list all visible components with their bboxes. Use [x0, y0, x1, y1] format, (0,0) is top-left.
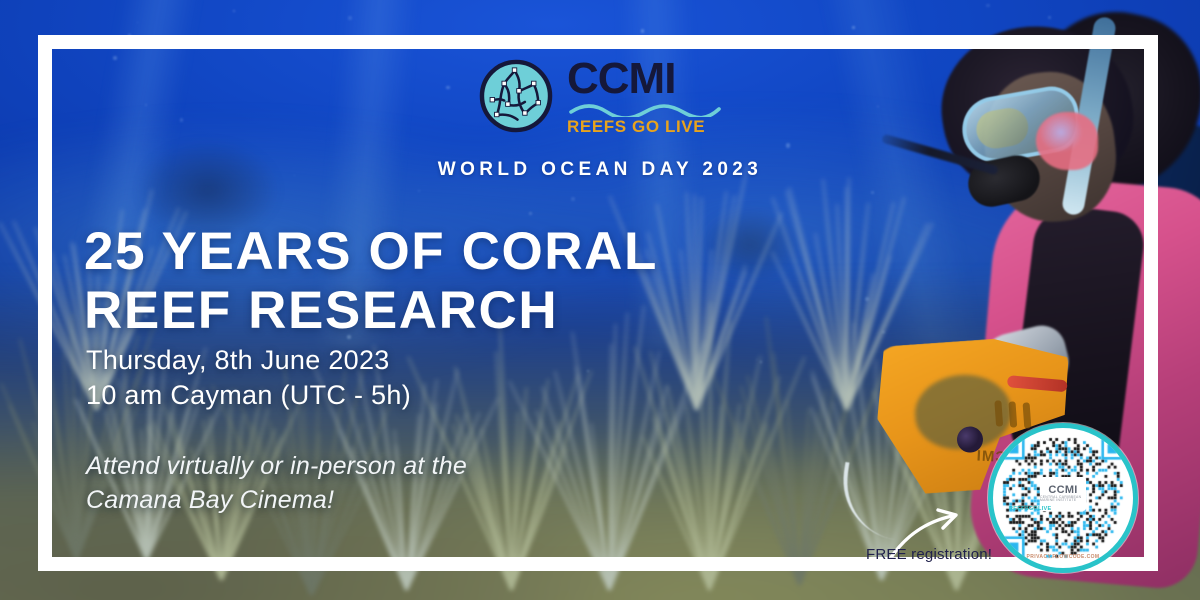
ccmi-logo: CCMI REEFS GO LIVE: [479, 58, 721, 135]
qr-side-label: REEFSGOLIVE: [1009, 507, 1051, 513]
wave-divider-icon: [569, 103, 721, 117]
qr-registration-badge[interactable]: CCMI CENTRAL CARIBBEAN MARINE INSTITUTE …: [988, 423, 1138, 573]
ccmi-coral-circle-icon: [479, 59, 553, 133]
ccmi-tagline: REEFS GO LIVE: [567, 118, 705, 135]
event-datetime: Thursday, 8th June 2023 10 am Cayman (UT…: [86, 343, 411, 413]
headline-line-1: 25 YEARS OF CORAL: [84, 222, 658, 281]
ccmi-wordmark-text: CCMI: [567, 58, 675, 100]
qr-center-sublabel: CENTRAL CARIBBEAN MARINE INSTITUTE: [1040, 496, 1086, 503]
headline-line-2: REEF RESEARCH: [84, 281, 658, 340]
event-date: Thursday, 8th June 2023: [86, 343, 411, 378]
page-title: 25 YEARS OF CORAL REEF RESEARCH: [84, 222, 658, 341]
world-ocean-day-kicker: WORLD OCEAN DAY 2023: [0, 160, 1200, 179]
poster: CCMI: [0, 0, 1200, 600]
event-time: 10 am Cayman (UTC - 5h): [86, 378, 411, 413]
attendance-note: Attend virtually or in-person at the Cam…: [86, 450, 467, 517]
brand-block: CCMI REEFS GO LIVE WORLD OCEAN DAY 2023: [0, 58, 1200, 179]
qr-footer-url: PRIVACY.FLOWCODE.COM: [993, 555, 1133, 560]
attendance-line-2: Camana Bay Cinema!: [86, 484, 467, 518]
ccmi-wordmark: CCMI REEFS GO LIVE: [567, 58, 721, 135]
qr-ring[interactable]: CCMI CENTRAL CARIBBEAN MARINE INSTITUTE …: [988, 423, 1138, 573]
free-registration-label: FREE registration!: [866, 545, 992, 565]
attendance-line-1: Attend virtually or in-person at the: [86, 450, 467, 484]
